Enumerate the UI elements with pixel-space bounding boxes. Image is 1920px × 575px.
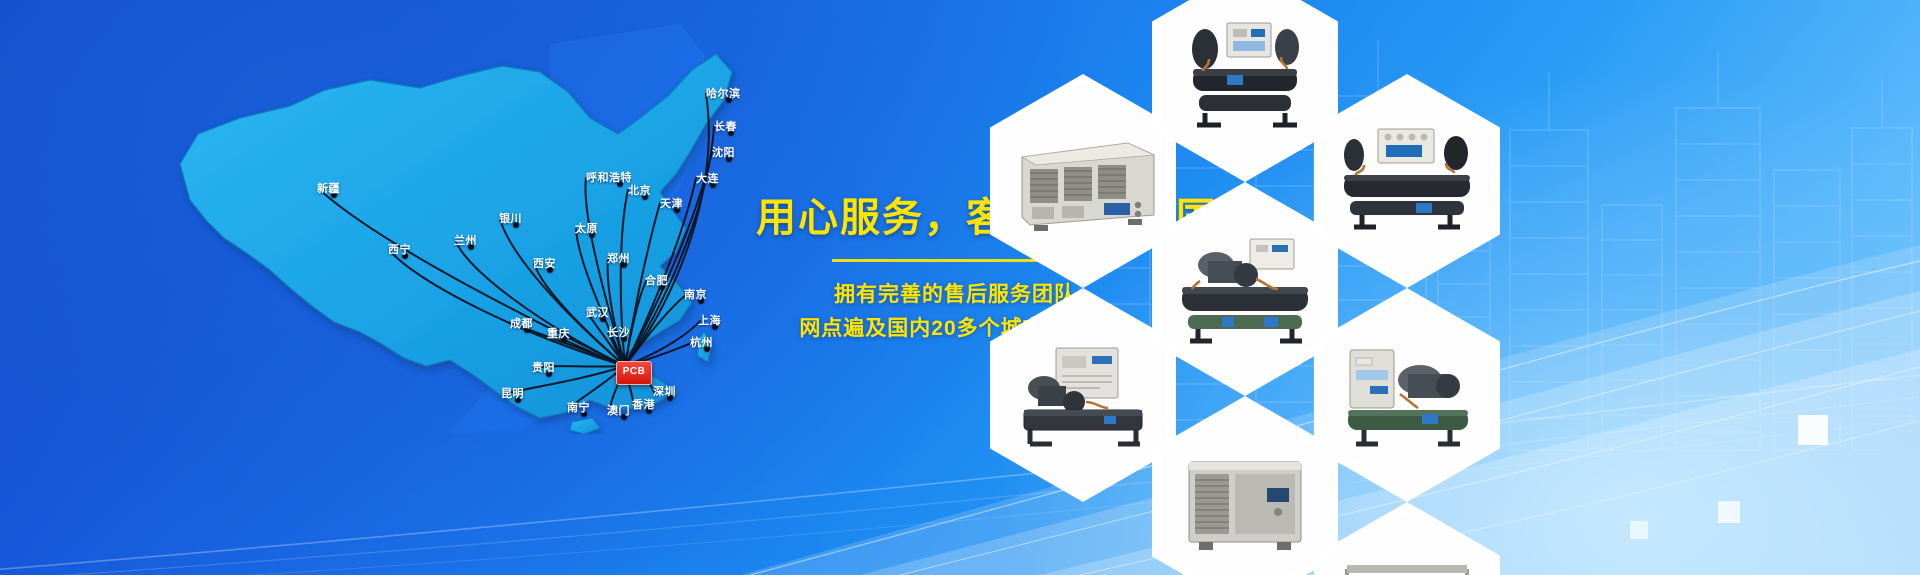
map-city-label: 兰州 [454,232,477,248]
map-city-label: 南宁 [567,399,590,415]
map-city-label: 西安 [533,255,556,271]
map-hainan-island [570,418,600,434]
product-hex-air-cooled-box-chiller[interactable] [990,74,1176,288]
chiller-box-unit-icon [1008,121,1158,241]
product-hex-water-cooled-open-type-chiller[interactable] [1152,182,1338,396]
map-city-label: 澳门 [607,402,630,418]
industrial-chiller-icon [1169,13,1321,137]
water-cooled-chiller-icon [1170,231,1320,347]
china-map-svg [120,14,780,434]
map-city-label: 武汉 [586,304,609,320]
map-city-label: 长春 [714,118,737,134]
map-city-label: 哈尔滨 [706,85,741,101]
map-city-label: 太原 [575,220,598,236]
map-city-label: 新疆 [317,180,340,196]
map-city-label: 上海 [698,312,721,328]
product-image-box-type-water-chiller [1161,405,1329,575]
product-image-screw-compressor-unit [999,297,1167,493]
map-city-label: 北京 [628,182,651,198]
product-image-water-cooled-screw-chiller [1323,83,1491,279]
map-city-label: 天津 [660,195,683,211]
map-city-label: 呼和浩特 [586,169,632,185]
product-hex-industrial-air-cooled-chiller[interactable] [1152,0,1338,182]
map-city-label: 合肥 [645,272,668,288]
box-water-chiller-icon [1175,448,1315,558]
hub-marker-pcb[interactable]: PCB [616,361,652,385]
product-image-water-cooled-open-type-chiller [1161,191,1329,387]
map-city-label: 成都 [510,315,533,331]
product-hexagon-grid [960,0,1920,575]
map-city-label: 深圳 [653,383,676,399]
screw-compressor-icon [1008,336,1158,454]
screw-chiller-icon [1332,123,1482,239]
map-city-label: 银川 [499,210,522,226]
product-image-frame-type-air-cooled-chiller [1323,511,1491,575]
frame-chiller-icon [1333,553,1481,575]
product-hex-box-type-water-chiller[interactable] [1152,396,1338,575]
china-service-map: 哈尔滨长春沈阳大连呼和浩特北京天津新疆银川太原兰州西宁西安郑州合肥南京上海武汉长… [120,14,780,434]
map-city-label: 重庆 [547,325,570,341]
map-city-label: 贵阳 [532,359,555,375]
promo-banner: 哈尔滨长春沈阳大连呼和浩特北京天津新疆银川太原兰州西宁西安郑州合肥南京上海武汉长… [0,0,1920,575]
map-city-label: 西宁 [388,241,411,257]
product-image-industrial-air-cooled-chiller [1161,0,1329,173]
product-hex-water-cooled-screw-chiller[interactable] [1314,74,1500,288]
map-city-label: 南京 [684,286,707,302]
product-hex-low-temperature-chiller-cabinet[interactable] [1314,288,1500,502]
map-city-label: 杭州 [690,334,713,350]
product-image-low-temperature-chiller-cabinet [1323,297,1491,493]
product-hex-frame-type-air-cooled-chiller[interactable] [1314,502,1500,575]
map-city-label: 长沙 [607,324,630,340]
product-hex-screw-compressor-unit[interactable] [990,288,1176,502]
chiller-cabinet-icon [1334,336,1480,454]
map-city-label: 昆明 [501,385,524,401]
product-image-air-cooled-box-chiller [999,83,1167,279]
map-city-label: 香港 [632,396,655,412]
map-city-label: 沈阳 [712,144,735,160]
map-city-label: 大连 [696,170,719,186]
map-city-label: 郑州 [607,250,630,266]
